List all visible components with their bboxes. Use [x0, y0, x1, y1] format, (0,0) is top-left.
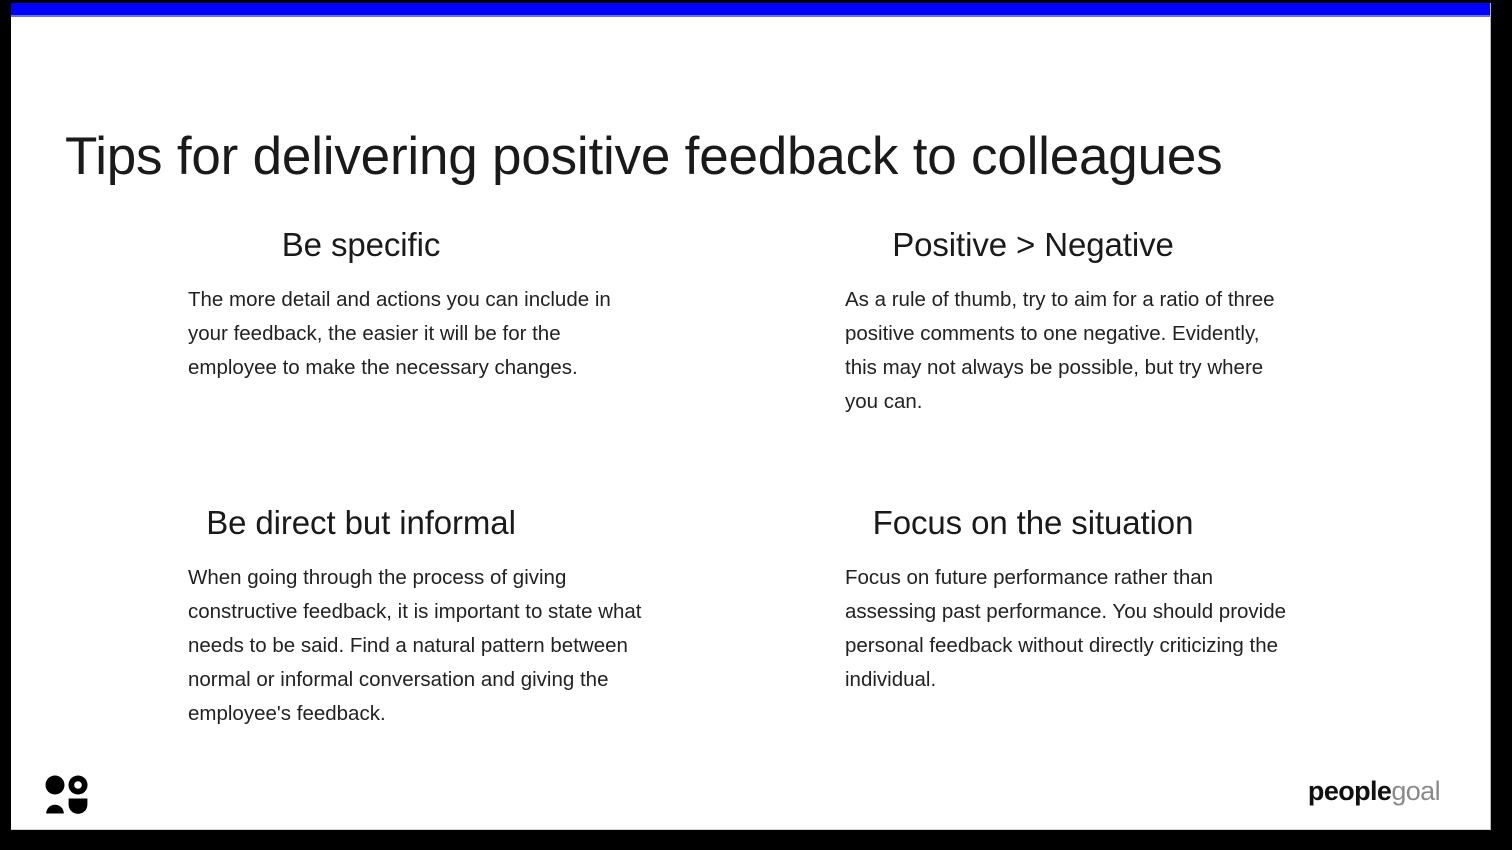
page-title: Tips for delivering positive feedback to… — [65, 127, 1425, 186]
peoplegoal-logo-mark-icon — [44, 775, 90, 815]
wordmark-people: people — [1308, 776, 1391, 806]
tip-heading: Focus on the situation — [833, 503, 1233, 543]
tip-body: As a rule of thumb, try to aim for a rat… — [833, 283, 1289, 420]
tip-body: When going through the process of giving… — [176, 561, 656, 732]
logo-filled-circle-shape — [46, 776, 65, 795]
tip-body: The more detail and actions you can incl… — [176, 283, 650, 386]
logo-person-bust-shape — [46, 805, 64, 814]
top-accent-bar-shadow — [11, 15, 1490, 17]
slide-frame: Tips for delivering positive feedback to… — [0, 0, 1512, 850]
tip-body: Focus on future performance rather than … — [833, 561, 1293, 698]
tip-heading: Be specific — [176, 225, 546, 265]
tip-card: Be specific The more detail and actions … — [176, 225, 696, 385]
wordmark-goal: goal — [1391, 776, 1440, 806]
tip-heading: Positive > Negative — [833, 225, 1233, 265]
top-accent-bar — [11, 3, 1490, 15]
peoplegoal-wordmark: peoplegoal — [1308, 776, 1440, 806]
logo-ring-circle-shape — [69, 776, 88, 795]
tip-heading: Be direct but informal — [176, 503, 546, 543]
slide-canvas: Tips for delivering positive feedback to… — [11, 3, 1491, 830]
tip-card: Be direct but informal When going throug… — [176, 503, 696, 732]
tip-card: Focus on the situation Focus on future p… — [833, 503, 1353, 697]
tip-card: Positive > Negative As a rule of thumb, … — [833, 225, 1353, 419]
logo-bowl-shape — [69, 799, 88, 814]
tips-grid: Be specific The more detail and actions … — [11, 225, 1490, 785]
